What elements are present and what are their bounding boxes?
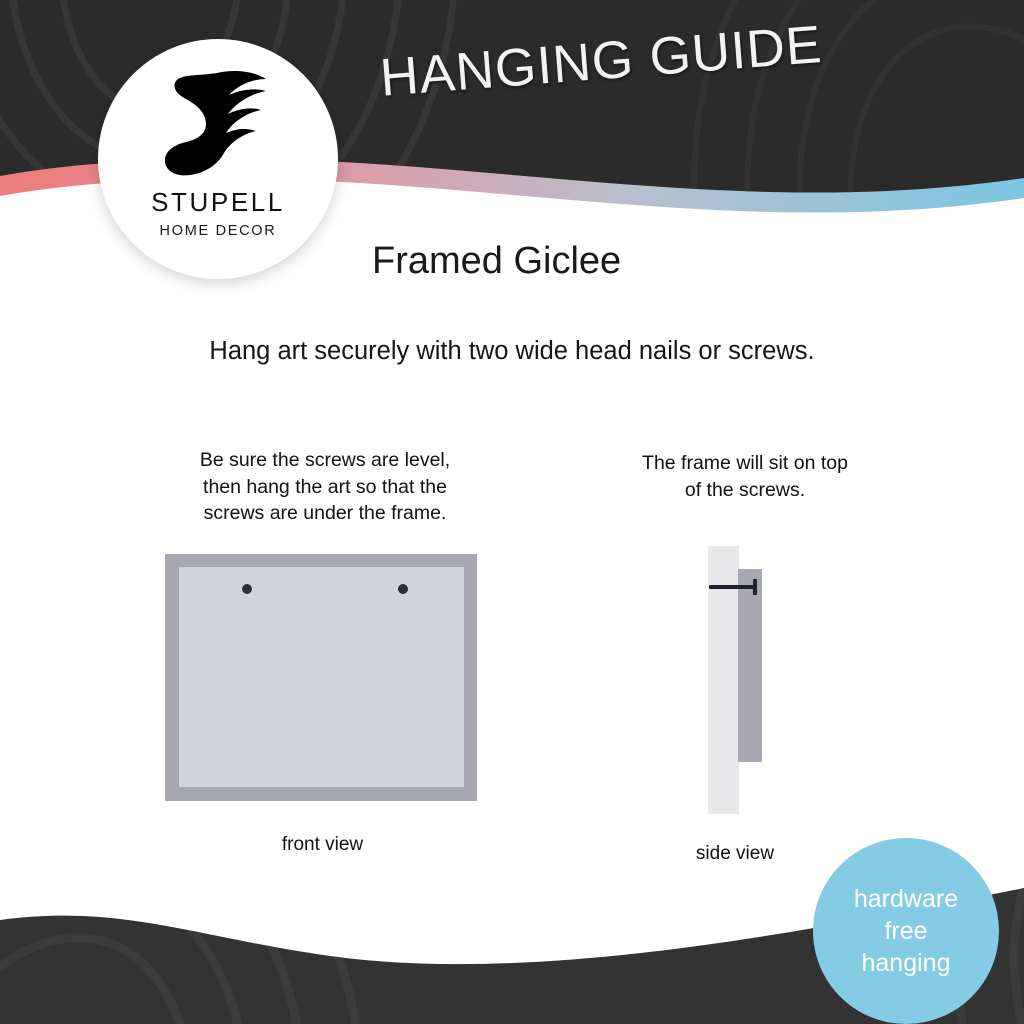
side-view-caption: The frame will sit on top of the screws. bbox=[590, 450, 900, 503]
front-view-label: front view bbox=[175, 834, 470, 856]
front-caption-line-1: Be sure the screws are level, bbox=[140, 447, 510, 474]
screw-dot-left-icon bbox=[242, 584, 252, 594]
main-instruction-text: Hang art securely with two wide head nai… bbox=[0, 337, 1024, 366]
stupell-swoosh-logo-icon bbox=[154, 67, 282, 185]
badge-line-2: free bbox=[884, 915, 927, 947]
side-view-diagram bbox=[708, 546, 778, 814]
brand-tagline: HOME DECOR bbox=[160, 223, 277, 239]
front-view-caption: Be sure the screws are level, then hang … bbox=[140, 447, 510, 527]
front-caption-line-2: then hang the art so that the bbox=[140, 474, 510, 501]
side-view-label: side view bbox=[640, 843, 830, 865]
side-caption-line-2: of the screws. bbox=[590, 477, 900, 504]
brand-logo-badge: STUPELL HOME DECOR bbox=[98, 39, 338, 279]
badge-line-1: hardware bbox=[854, 883, 958, 915]
badge-line-3: hanging bbox=[862, 947, 951, 979]
screw-dot-right-icon bbox=[398, 584, 408, 594]
nail-shaft-icon bbox=[709, 585, 757, 589]
side-frame-strip bbox=[738, 569, 762, 762]
brand-name: STUPELL bbox=[151, 187, 285, 218]
nail-head-icon bbox=[753, 579, 757, 595]
front-view-diagram bbox=[165, 554, 477, 801]
product-type-heading: Framed Giclee bbox=[372, 240, 621, 283]
side-caption-line-1: The frame will sit on top bbox=[590, 450, 900, 477]
frame-inner-artwork bbox=[179, 567, 464, 787]
front-caption-line-3: screws are under the frame. bbox=[140, 500, 510, 527]
hardware-free-hanging-badge: hardware free hanging bbox=[813, 838, 999, 1024]
hanging-guide-page: HANGING GUIDE STUPELL HOME DECOR Framed … bbox=[0, 0, 1024, 1024]
